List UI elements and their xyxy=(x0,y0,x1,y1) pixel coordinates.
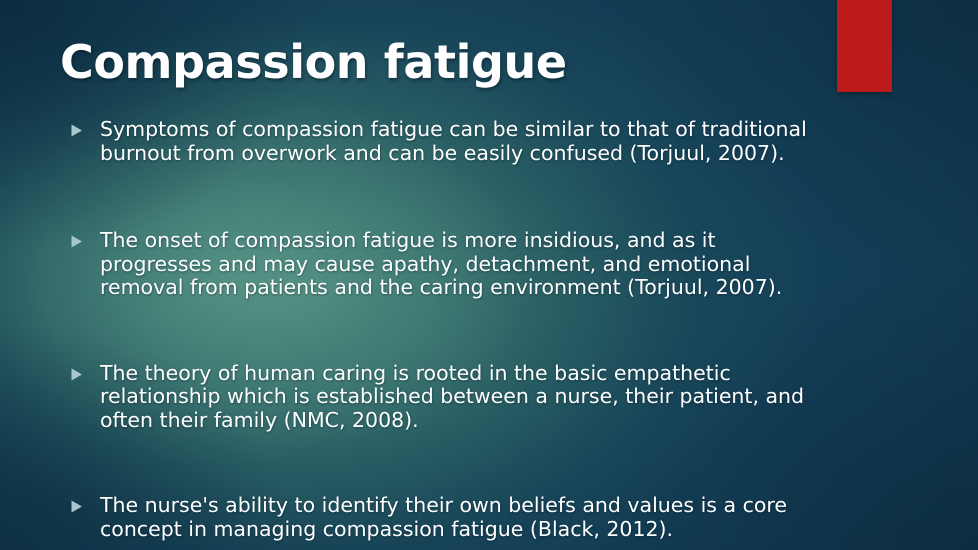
presentation-slide: Compassion fatigue Symptoms of compassio… xyxy=(0,0,978,550)
bullet-item: Symptoms of compassion fatigue can be si… xyxy=(70,118,810,165)
bullet-text: The theory of human caring is rooted in … xyxy=(100,362,810,433)
bullet-item: The theory of human caring is rooted in … xyxy=(70,362,810,433)
slide-title: Compassion fatigue xyxy=(60,38,567,88)
bullet-text: Symptoms of compassion fatigue can be si… xyxy=(100,118,810,165)
bullet-item: The nurse's ability to identify their ow… xyxy=(70,494,810,541)
triangle-right-icon xyxy=(70,229,100,248)
red-accent-rectangle xyxy=(837,0,892,92)
bullet-text: The nurse's ability to identify their ow… xyxy=(100,494,810,541)
bullet-text: The onset of compassion fatigue is more … xyxy=(100,229,810,300)
bullet-item: The onset of compassion fatigue is more … xyxy=(70,229,810,300)
triangle-right-icon xyxy=(70,118,100,137)
triangle-right-icon xyxy=(70,362,100,381)
slide-body-content: Symptoms of compassion fatigue can be si… xyxy=(70,118,810,541)
triangle-right-icon xyxy=(70,494,100,513)
